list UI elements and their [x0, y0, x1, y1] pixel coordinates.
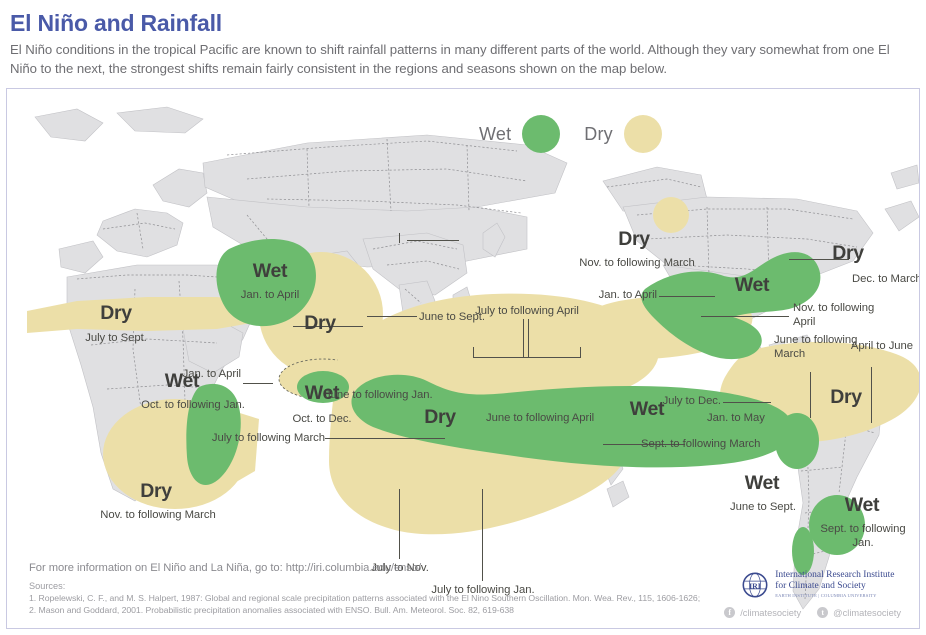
map-label-ne-brazil-season: April to June — [849, 340, 913, 354]
map-label-central-asia-heading: Wet — [225, 265, 315, 279]
map-label-sahel-season: July to Sept. — [61, 332, 171, 346]
legend-item-dry: Dry — [584, 115, 662, 153]
leader-spacer — [399, 233, 400, 243]
page-subtitle: El Niño conditions in the tropical Pacif… — [10, 41, 914, 78]
map-label-sahel-heading: Dry — [71, 307, 161, 321]
facebook-icon: f — [724, 607, 735, 618]
map-label-indonesia-west-season: July to following March — [195, 432, 325, 446]
map-label-alaska-season: Nov. to following March — [547, 257, 727, 271]
map-label-peru-heading: Wet — [717, 477, 807, 491]
twitter-link[interactable]: t @climatesociety — [817, 607, 901, 618]
leader-caribbean — [723, 402, 771, 403]
leader-wpac-2 — [528, 319, 529, 357]
legend-label-wet: Wet — [479, 124, 511, 145]
map-label-gulf-coast-season: Nov. to following April — [793, 302, 887, 329]
map-label-equatorial-pacific-season: June to following April — [486, 412, 594, 426]
social-row: f /climatesociety t @climatesociety — [724, 607, 901, 618]
iri-globe-icon: IRI — [742, 572, 768, 598]
map-label-ohio-valley-season: Dec. to March — [852, 273, 920, 287]
leader-indonesia — [325, 438, 445, 439]
map-label-peru-season: June to Sept. — [707, 501, 819, 515]
leader-wpac-1 — [523, 319, 524, 357]
map-stage: .land { fill:#e0e0e2; stroke:#c2c2c6; st… — [7, 89, 919, 628]
map-label-ohio-valley-heading: Dry — [813, 247, 883, 261]
iri-logo-wordmark: International Research Institute for Cli… — [775, 570, 894, 599]
map-label-south-pacific-season: Sept. to following March — [641, 438, 760, 452]
map-label-southern-us-season: Jan. to April — [569, 289, 657, 303]
leader-asia-wet — [407, 240, 459, 241]
svg-text:IRI: IRI — [749, 581, 761, 590]
leader-arabian-sea — [243, 383, 273, 384]
dry-region-alaska — [653, 197, 689, 233]
leader-wpac-bracket — [473, 357, 581, 358]
facebook-handle: /climatesociety — [740, 608, 801, 618]
legend-swatch-wet — [522, 115, 560, 153]
wet-region-peru — [775, 413, 819, 469]
iri-logo-block: IRI International Research Institute for… — [724, 570, 901, 618]
map-label-se-south-america-season: Sept. to following Jan. — [811, 523, 915, 550]
map-label-se-south-america-heading: Wet — [817, 499, 907, 513]
map-label-west-pacific-season: July to following April — [455, 305, 599, 319]
leader-aus-west — [399, 489, 400, 559]
map-label-maritime-heading: Dry — [395, 411, 485, 425]
leader-india-jun — [367, 316, 417, 317]
map-panel: .land { fill:#e0e0e2; stroke:#c2c2c6; st… — [6, 88, 920, 629]
iri-logo-line2: for Climate and Society — [775, 581, 894, 592]
map-label-caribbean-season: July to Dec. — [633, 395, 721, 409]
map-label-india-heading: Dry — [275, 317, 365, 331]
legend: Wet Dry — [479, 115, 662, 153]
map-label-sri-lanka-season: Oct. to Dec. — [271, 413, 373, 427]
map-label-amazon-heading: Dry — [801, 391, 891, 405]
map-label-alaska-heading: Dry — [599, 233, 669, 247]
header: El Niño and Rainfall El Niño conditions … — [0, 0, 926, 86]
map-label-southern-us-heading: Wet — [707, 279, 797, 293]
map-label-east-africa-season: Oct. to following Jan. — [103, 399, 283, 413]
map-label-arabian-sea-season: Jan. to April — [163, 368, 241, 382]
leader-gulf — [701, 316, 789, 317]
footer: For more information on El Niño and La N… — [29, 562, 729, 616]
facebook-link[interactable]: f /climatesociety — [724, 607, 801, 618]
legend-swatch-dry — [624, 115, 662, 153]
twitter-handle: @climatesociety — [833, 608, 901, 618]
iri-logo-line1: International Research Institute — [775, 570, 894, 581]
legend-label-dry: Dry — [584, 124, 613, 145]
map-label-southern-africa-season: Nov. to following March — [83, 509, 233, 523]
infographic-root: El Niño and Rainfall El Niño conditions … — [0, 0, 926, 635]
footer-source-1: 1. Ropelewski, C. F., and M. S. Halpert,… — [29, 593, 729, 605]
leader-wpac-br-l — [473, 347, 474, 358]
map-label-central-pacific-season: Jan. to May — [707, 412, 765, 426]
leader-jan-april-us — [659, 296, 715, 297]
twitter-icon: t — [817, 607, 828, 618]
footer-sources-label: Sources: — [29, 581, 729, 591]
iri-logo-row: IRI International Research Institute for… — [724, 570, 901, 599]
footer-more-info[interactable]: For more information on El Niño and La N… — [29, 562, 729, 574]
map-label-maritime-season: June to following Jan. — [325, 389, 433, 403]
footer-source-2: 2. Mason and Goddard, 2001. Probabilisti… — [29, 605, 729, 617]
page-title: El Niño and Rainfall — [10, 9, 914, 37]
iri-logo-line3: EARTH INSTITUTE | COLUMBIA UNIVERSITY — [775, 592, 894, 599]
leader-wpac-br-r — [580, 347, 581, 358]
map-label-southern-africa-heading: Dry — [111, 485, 201, 499]
legend-item-wet: Wet — [479, 115, 560, 153]
map-label-central-asia-season: Jan. to April — [215, 289, 325, 303]
